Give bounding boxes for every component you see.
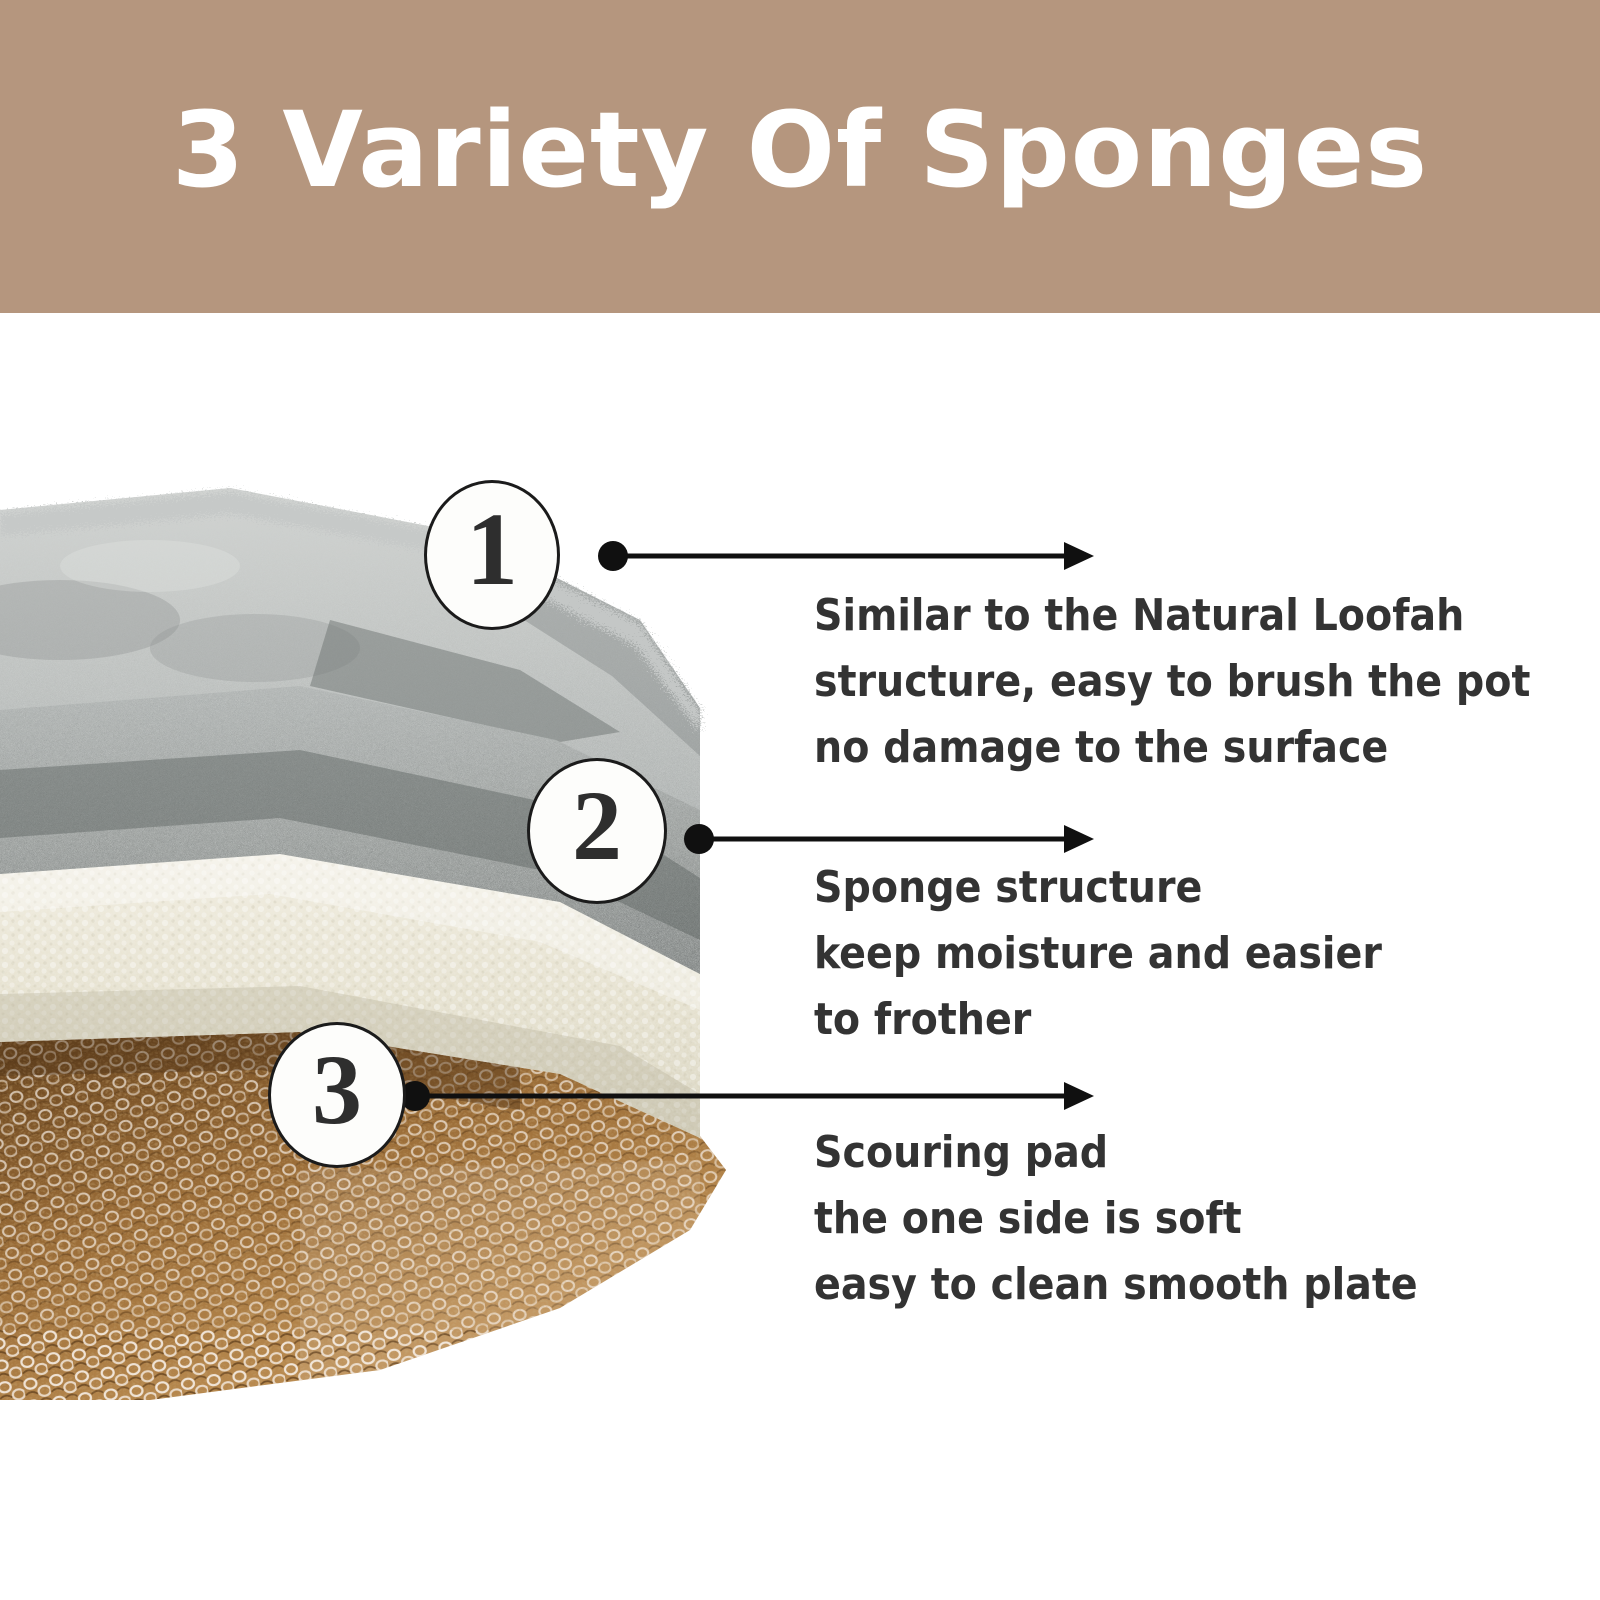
callout-text-2-line-2: keep moisture and easier [814, 921, 1382, 987]
callout-text-3-line-1: Scouring pad [814, 1120, 1418, 1186]
infographic-canvas: 3 Variety Of Sponges [0, 0, 1600, 1600]
callout-badge-1: 1 [424, 480, 560, 630]
callout-text-2-line-1: Sponge structure [814, 855, 1382, 921]
connector-arrowhead-2 [1064, 825, 1094, 853]
callout-connector-3 [398, 1075, 1096, 1117]
callout-badge-2: 2 [527, 758, 667, 904]
callout-text-3: Scouring pad the one side is soft easy t… [814, 1120, 1418, 1318]
callout-text-2: Sponge structure keep moisture and easie… [814, 855, 1382, 1053]
callout-connector-1 [596, 535, 1096, 577]
callout-text-1-line-2: structure, easy to brush the pot [814, 649, 1530, 715]
callout-connector-2 [682, 818, 1096, 860]
connector-arrowhead-3 [1064, 1082, 1094, 1110]
callout-badge-3: 3 [268, 1022, 406, 1168]
callout-badge-1-number: 1 [466, 498, 518, 602]
callout-text-1-line-1: Similar to the Natural Loofah [814, 583, 1530, 649]
callout-badge-3-number: 3 [312, 1040, 362, 1140]
callout-text-3-line-3: easy to clean smooth plate [814, 1252, 1418, 1318]
product-image-sponge-cutaway [0, 470, 770, 1400]
callout-text-2-line-3: to frother [814, 987, 1382, 1053]
callout-text-1-line-3: no damage to the surface [814, 715, 1530, 781]
connector-arrowhead-1 [1064, 542, 1094, 570]
page-title: 3 Variety Of Sponges [0, 0, 1600, 313]
callout-text-1: Similar to the Natural Loofah structure,… [814, 583, 1530, 781]
callout-text-3-line-2: the one side is soft [814, 1186, 1418, 1252]
callout-badge-2-number: 2 [572, 776, 622, 876]
